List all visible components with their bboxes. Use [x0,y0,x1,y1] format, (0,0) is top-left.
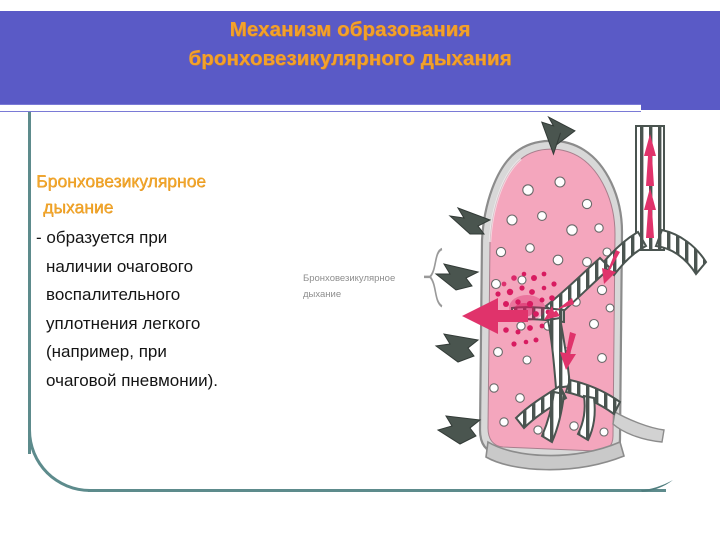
diagram-caption-line-1: Бронховезикулярное [303,271,428,287]
frame-corner-curve [28,430,90,492]
lung-illustration [424,112,720,487]
body-heading: Бронховезикулярное дыхание [36,168,326,220]
paragraph-line: воспалительного [36,281,326,310]
paragraph-line: (например, при [36,338,326,367]
paragraph-line: уплотнения легкого [36,310,326,339]
body-text-block: Бронховезикулярное дыхание - образуется … [36,168,326,395]
title-line-1: Механизм образования [230,18,471,41]
title-banner: Механизм образования бронховезикулярного… [0,11,720,110]
diagram-caption-line-2: дыхание [303,287,428,303]
banner-divider [0,104,641,112]
paragraph-line: очаговой пневмонии). [36,367,326,396]
frame-vertical-line [28,112,31,454]
body-heading-line-1: Бронховезикулярное [36,171,206,191]
frame-horizontal-line [88,489,666,492]
focus-brace-icon [424,249,442,306]
slide-canvas: Механизм образования бронховезикулярного… [0,0,720,540]
diagram-caption: Бронховезикулярное дыхание [303,271,428,303]
paragraph-line: наличии очагового [36,253,326,282]
title-line-2: бронховезикулярного дыхания [0,44,700,73]
paragraph-line: - образуется при [36,224,326,253]
body-paragraph: - образуется при наличии очагового воспа… [36,224,326,395]
page-title: Механизм образования бронховезикулярного… [0,15,700,73]
body-heading-line-2: дыхание [36,194,326,220]
